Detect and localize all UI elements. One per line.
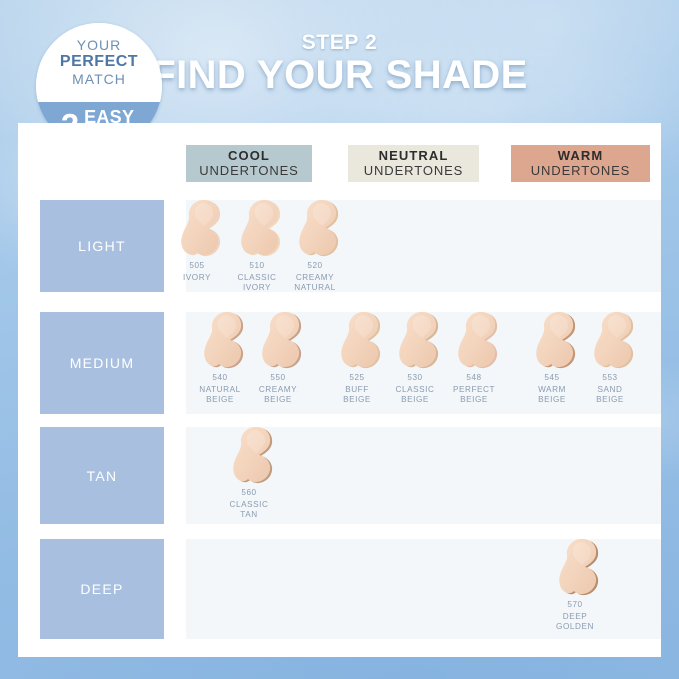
badge-line-perfect: PERFECT (60, 53, 138, 71)
shade-swatch-art (548, 538, 602, 600)
shade-code: 570 (548, 600, 602, 610)
shade-name: DEEP GOLDEN (548, 612, 602, 632)
shade-code: 553 (583, 373, 637, 383)
column-title: COOL (228, 149, 270, 163)
shade-code: 505 (170, 261, 224, 271)
column-title: WARM (558, 149, 604, 163)
shade-code: 560 (222, 488, 276, 498)
shade-swatch-560[interactable]: 560CLASSIC TAN (222, 426, 276, 520)
shade-swatch-art (222, 426, 276, 488)
shade-name: CREAMY BEIGE (251, 385, 305, 405)
shade-swatch-art (388, 311, 442, 373)
shade-code: 550 (251, 373, 305, 383)
shade-swatch-art (330, 311, 384, 373)
row-label-text: TAN (87, 468, 118, 484)
column-subtitle: UNDERTONES (364, 163, 464, 178)
shade-name: CREAMY NATURAL (288, 273, 342, 293)
row-label-light: LIGHT (40, 200, 164, 292)
shade-code: 530 (388, 373, 442, 383)
shade-swatch-art (288, 199, 342, 261)
column-title: NEUTRAL (379, 149, 449, 163)
shade-swatch-520[interactable]: 520CREAMY NATURAL (288, 199, 342, 293)
shade-name: CLASSIC BEIGE (388, 385, 442, 405)
shade-name: IVORY (170, 273, 224, 283)
shade-swatch-548[interactable]: 548PERFECT BEIGE (447, 311, 501, 405)
shade-swatch-art (447, 311, 501, 373)
shade-swatch-art (170, 199, 224, 261)
shade-name: CLASSIC IVORY (230, 273, 284, 293)
shade-swatch-art (193, 311, 247, 373)
shade-code: 510 (230, 261, 284, 271)
shade-name: WARM BEIGE (525, 385, 579, 405)
badge-line-match: MATCH (72, 71, 126, 88)
shade-swatch-art (251, 311, 305, 373)
column-header-neutral: NEUTRALUNDERTONES (348, 145, 479, 182)
row-label-medium: MEDIUM (40, 312, 164, 414)
shade-name: CLASSIC TAN (222, 500, 276, 520)
shade-swatch-art (230, 199, 284, 261)
shade-code: 525 (330, 373, 384, 383)
shade-code: 540 (193, 373, 247, 383)
shade-swatch-505[interactable]: 505IVORY (170, 199, 224, 283)
badge-top: YOUR PERFECT MATCH (36, 23, 162, 102)
column-header-warm: WARMUNDERTONES (511, 145, 650, 182)
shade-swatch-art (525, 311, 579, 373)
shade-name: SAND BEIGE (583, 385, 637, 405)
shade-swatch-570[interactable]: 570DEEP GOLDEN (548, 538, 602, 632)
column-subtitle: UNDERTONES (199, 163, 299, 178)
shade-swatch-545[interactable]: 545WARM BEIGE (525, 311, 579, 405)
shade-swatch-550[interactable]: 550CREAMY BEIGE (251, 311, 305, 405)
badge-line-your: YOUR (77, 37, 121, 53)
column-subtitle: UNDERTONES (531, 163, 631, 178)
shade-code: 545 (525, 373, 579, 383)
shade-name: NATURAL BEIGE (193, 385, 247, 405)
shade-swatch-art (583, 311, 637, 373)
shade-code: 520 (288, 261, 342, 271)
row-label-text: DEEP (80, 581, 123, 597)
shade-name: BUFF BEIGE (330, 385, 384, 405)
shade-code: 548 (447, 373, 501, 383)
shade-swatch-540[interactable]: 540NATURAL BEIGE (193, 311, 247, 405)
shade-swatch-510[interactable]: 510CLASSIC IVORY (230, 199, 284, 293)
row-label-text: LIGHT (78, 238, 126, 254)
row-label-text: MEDIUM (70, 355, 135, 371)
shade-swatch-525[interactable]: 525BUFF BEIGE (330, 311, 384, 405)
shade-swatch-553[interactable]: 553SAND BEIGE (583, 311, 637, 405)
row-label-tan: TAN (40, 427, 164, 524)
row-label-deep: DEEP (40, 539, 164, 639)
shade-swatch-530[interactable]: 530CLASSIC BEIGE (388, 311, 442, 405)
shade-chart-card: COOLUNDERTONESNEUTRALUNDERTONESWARMUNDER… (18, 123, 661, 657)
column-header-cool: COOLUNDERTONES (186, 145, 312, 182)
shade-name: PERFECT BEIGE (447, 385, 501, 405)
